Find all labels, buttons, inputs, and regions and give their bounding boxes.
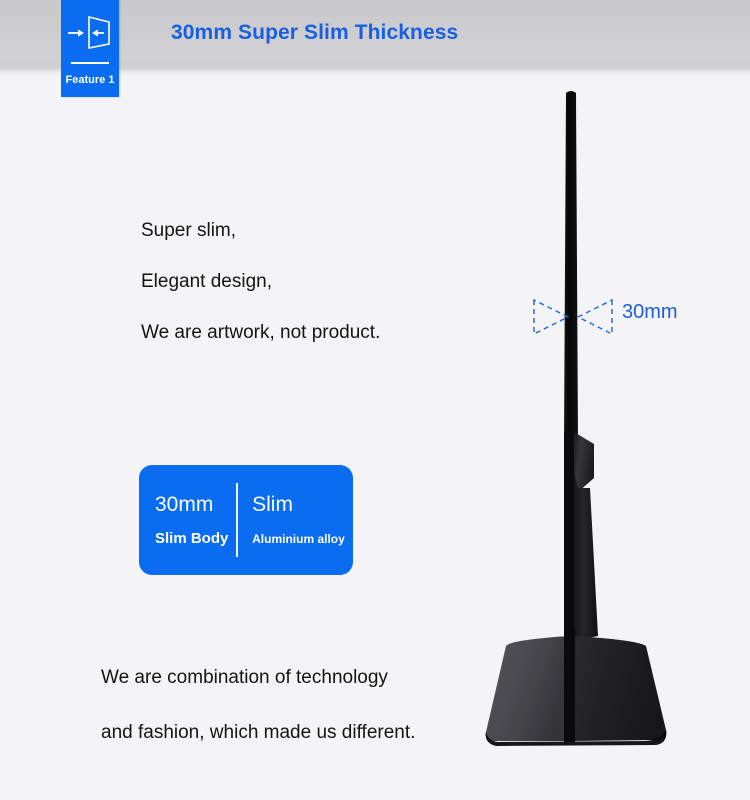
- dimension-arrows-icon: [528, 293, 708, 341]
- copy-line: We are artwork, not product.: [141, 307, 471, 358]
- spec-name: Slim Body: [155, 528, 236, 550]
- product-image-slim-monitor: [470, 80, 750, 770]
- copy-line: and fashion, which made us different.: [101, 705, 531, 760]
- slim-panel-thickness-icon: [64, 12, 116, 52]
- feature-slide: 30mm Super Slim Thickness Feature 1 Supe…: [0, 0, 750, 800]
- spec-value: 30mm: [155, 491, 236, 518]
- feature-tab-label: Feature 1: [61, 74, 119, 86]
- feature-tab[interactable]: Feature 1: [61, 0, 119, 97]
- spec-badge: 30mm Slim Body Slim Aluminium alloy: [139, 465, 353, 575]
- spec-column-thickness: 30mm Slim Body: [139, 465, 236, 575]
- page-title: 30mm Super Slim Thickness: [171, 21, 458, 45]
- dimension-label: 30mm: [622, 301, 678, 324]
- copy-line: Elegant design,: [141, 256, 471, 307]
- feature-tab-rule: [71, 62, 109, 64]
- spec-value: Slim: [252, 491, 353, 518]
- headline-copy: Super slim, Elegant design, We are artwo…: [141, 205, 471, 358]
- spec-divider: [236, 483, 238, 557]
- spec-column-material: Slim Aluminium alloy: [238, 465, 353, 575]
- copy-line: Super slim,: [141, 205, 471, 256]
- copy-line: We are combination of technology: [101, 650, 531, 705]
- closing-copy: We are combination of technology and fas…: [101, 650, 531, 760]
- spec-name: Aluminium alloy: [252, 528, 353, 550]
- thickness-dimension-annotation: 30mm: [528, 293, 708, 341]
